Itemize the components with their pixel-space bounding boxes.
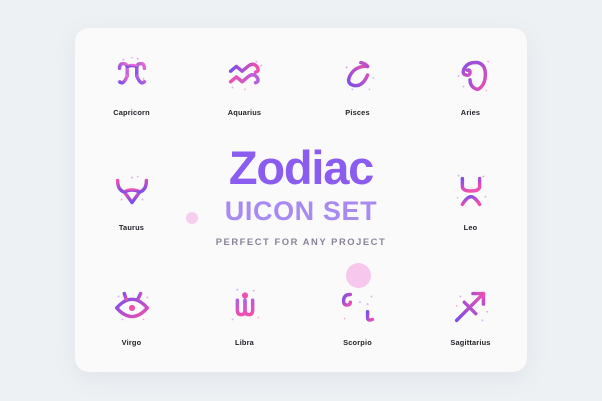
zodiac-label: Virgo — [122, 338, 142, 347]
zodiac-item-aries[interactable]: Aries — [414, 28, 527, 143]
zodiac-label: Capricorn — [113, 108, 150, 117]
sagittarius-zodiac-icon — [448, 283, 494, 329]
zodiac-label: Aries — [461, 108, 480, 117]
zodiac-item-aquarius[interactable]: Aquarius — [188, 28, 301, 143]
zodiac-label: Libra — [235, 338, 254, 347]
zodiac-item-scorpio[interactable]: Scorpio — [301, 257, 414, 372]
pisces-zodiac-icon — [335, 53, 381, 99]
zodiac-label: Pisces — [345, 108, 370, 117]
zodiac-label: Scorpio — [343, 338, 372, 347]
zodiac-item-leo[interactable]: Leo — [414, 143, 527, 258]
zodiac-icon-set-poster: Capricorn — [0, 0, 602, 401]
zodiac-item-sagittarius[interactable]: Sagittarius — [414, 257, 527, 372]
libra-zodiac-icon — [222, 283, 268, 329]
zodiac-item-taurus[interactable]: Taurus — [75, 143, 188, 258]
zodiac-item-libra[interactable]: Libra — [188, 257, 301, 372]
aries-zodiac-icon — [448, 53, 494, 99]
zodiac-icon-grid: Capricorn — [75, 28, 527, 372]
zodiac-label: Aquarius — [228, 108, 261, 117]
zodiac-label: Sagittarius — [450, 338, 490, 347]
zodiac-item-capricorn[interactable]: Capricorn — [75, 28, 188, 143]
taurus-zodiac-icon — [109, 168, 155, 214]
zodiac-item-pisces[interactable]: Pisces — [301, 28, 414, 143]
zodiac-label: Leo — [464, 223, 478, 232]
capricorn-zodiac-icon — [109, 53, 155, 99]
scorpio-zodiac-icon — [335, 283, 381, 329]
zodiac-label: Taurus — [119, 223, 144, 232]
aquarius-zodiac-icon — [222, 53, 268, 99]
zodiac-item-virgo[interactable]: Virgo — [75, 257, 188, 372]
virgo-zodiac-icon — [109, 283, 155, 329]
leo-zodiac-icon — [448, 168, 494, 214]
